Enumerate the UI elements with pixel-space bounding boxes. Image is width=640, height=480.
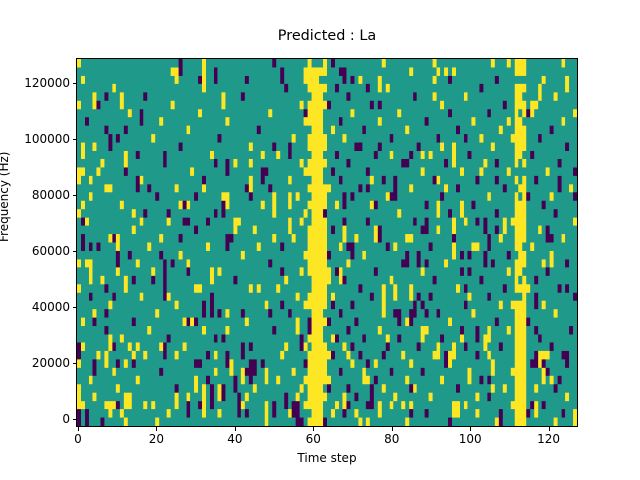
x-tick-label: 20 <box>149 433 164 445</box>
x-tick-label: 0 <box>74 433 82 445</box>
y-tick-label: 100000 <box>24 133 70 145</box>
x-tick-label: 120 <box>537 433 560 445</box>
y-tick-label: 120000 <box>24 77 70 89</box>
x-tick-label: 80 <box>384 433 399 445</box>
y-tick-label: 80000 <box>32 189 70 201</box>
y-tick-mark <box>73 139 77 140</box>
y-tick-mark <box>73 195 77 196</box>
y-tick-label: 20000 <box>32 357 70 369</box>
x-tick-label: 60 <box>306 433 321 445</box>
x-tick-mark <box>392 427 393 431</box>
y-tick-label: 0 <box>62 413 70 425</box>
x-tick-label: 100 <box>459 433 482 445</box>
y-tick-label: 60000 <box>32 245 70 257</box>
x-tick-mark <box>78 427 79 431</box>
heatmap-axes <box>76 58 578 427</box>
x-tick-mark <box>470 427 471 431</box>
y-tick-mark <box>73 363 77 364</box>
y-tick-mark <box>73 307 77 308</box>
spectrogram-image <box>77 59 577 426</box>
y-tick-mark <box>73 83 77 84</box>
y-tick-mark <box>73 419 77 420</box>
y-axis: 020000400006000080000100000120000 <box>0 58 76 427</box>
y-tick-label: 40000 <box>32 301 70 313</box>
x-tick-label: 40 <box>227 433 242 445</box>
x-tick-mark <box>235 427 236 431</box>
matplotlib-figure: Predicted : La 0200004000060000800001000… <box>0 0 640 480</box>
x-tick-mark <box>156 427 157 431</box>
y-axis-label: Frequency (Hz) <box>0 152 10 243</box>
x-tick-mark <box>549 427 550 431</box>
x-axis-label: Time step <box>76 452 578 464</box>
page-title: Predicted : La <box>76 29 578 43</box>
x-tick-mark <box>313 427 314 431</box>
y-tick-mark <box>73 251 77 252</box>
